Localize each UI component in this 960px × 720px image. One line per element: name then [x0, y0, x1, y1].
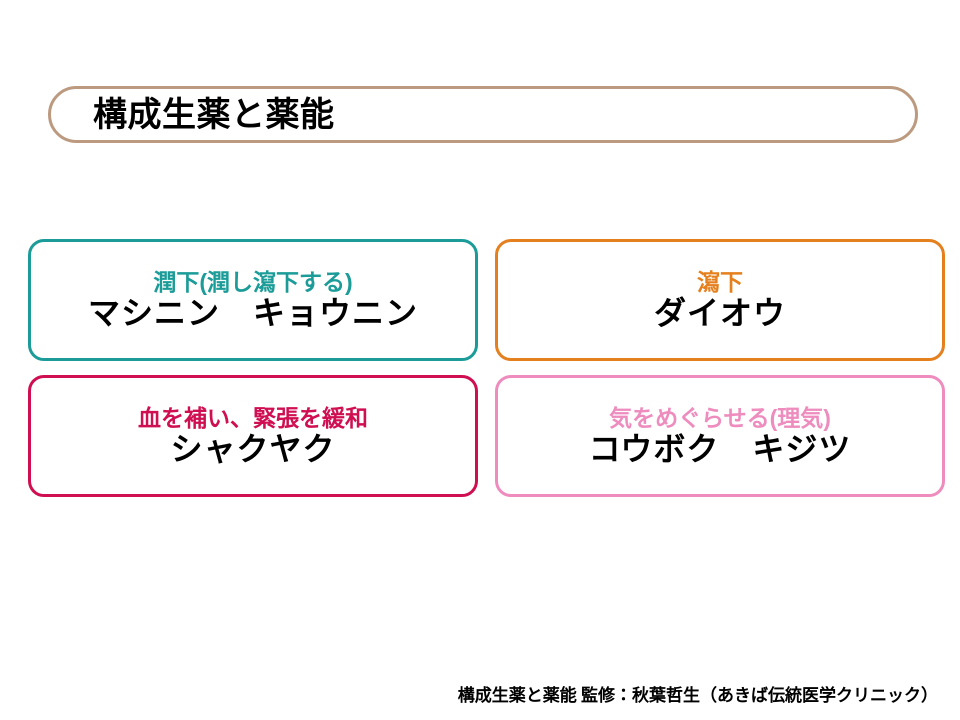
- herb-card-grid: 潤下(潤し瀉下する) マシニン キョウニン 瀉下 ダイオウ 血を補い、緊張を緩和…: [28, 239, 940, 495]
- card-herbs-label: ダイオウ: [654, 297, 786, 331]
- card-function-label: 瀉下: [697, 270, 743, 294]
- card-herbs-label: コウボク キジツ: [589, 433, 852, 467]
- card-function-label: 気をめぐらせる(理気): [609, 406, 831, 430]
- herb-card-riki[interactable]: 気をめぐらせる(理気) コウボク キジツ: [495, 375, 945, 497]
- page-title: 構成生薬と薬能: [93, 98, 335, 132]
- card-herbs-label: マシニン キョウニン: [88, 297, 418, 331]
- card-herbs-label: シャクヤク: [170, 433, 335, 467]
- card-function-label: 潤下(潤し瀉下する): [153, 270, 352, 294]
- herb-card-ketsu-ho[interactable]: 血を補い、緊張を緩和 シャクヤク: [28, 375, 478, 497]
- slide-title-pill: 構成生薬と薬能: [48, 86, 918, 143]
- card-function-label: 血を補い、緊張を緩和: [138, 406, 368, 430]
- footer-credit: 構成生薬と薬能 監修：秋葉哲生（あきば伝統医学クリニック）: [0, 681, 938, 706]
- herb-card-shage[interactable]: 瀉下 ダイオウ: [495, 239, 945, 361]
- slide-root: { "slide": { "title": "構成生薬と薬能", "title_…: [0, 0, 960, 720]
- herb-card-junge[interactable]: 潤下(潤し瀉下する) マシニン キョウニン: [28, 239, 478, 361]
